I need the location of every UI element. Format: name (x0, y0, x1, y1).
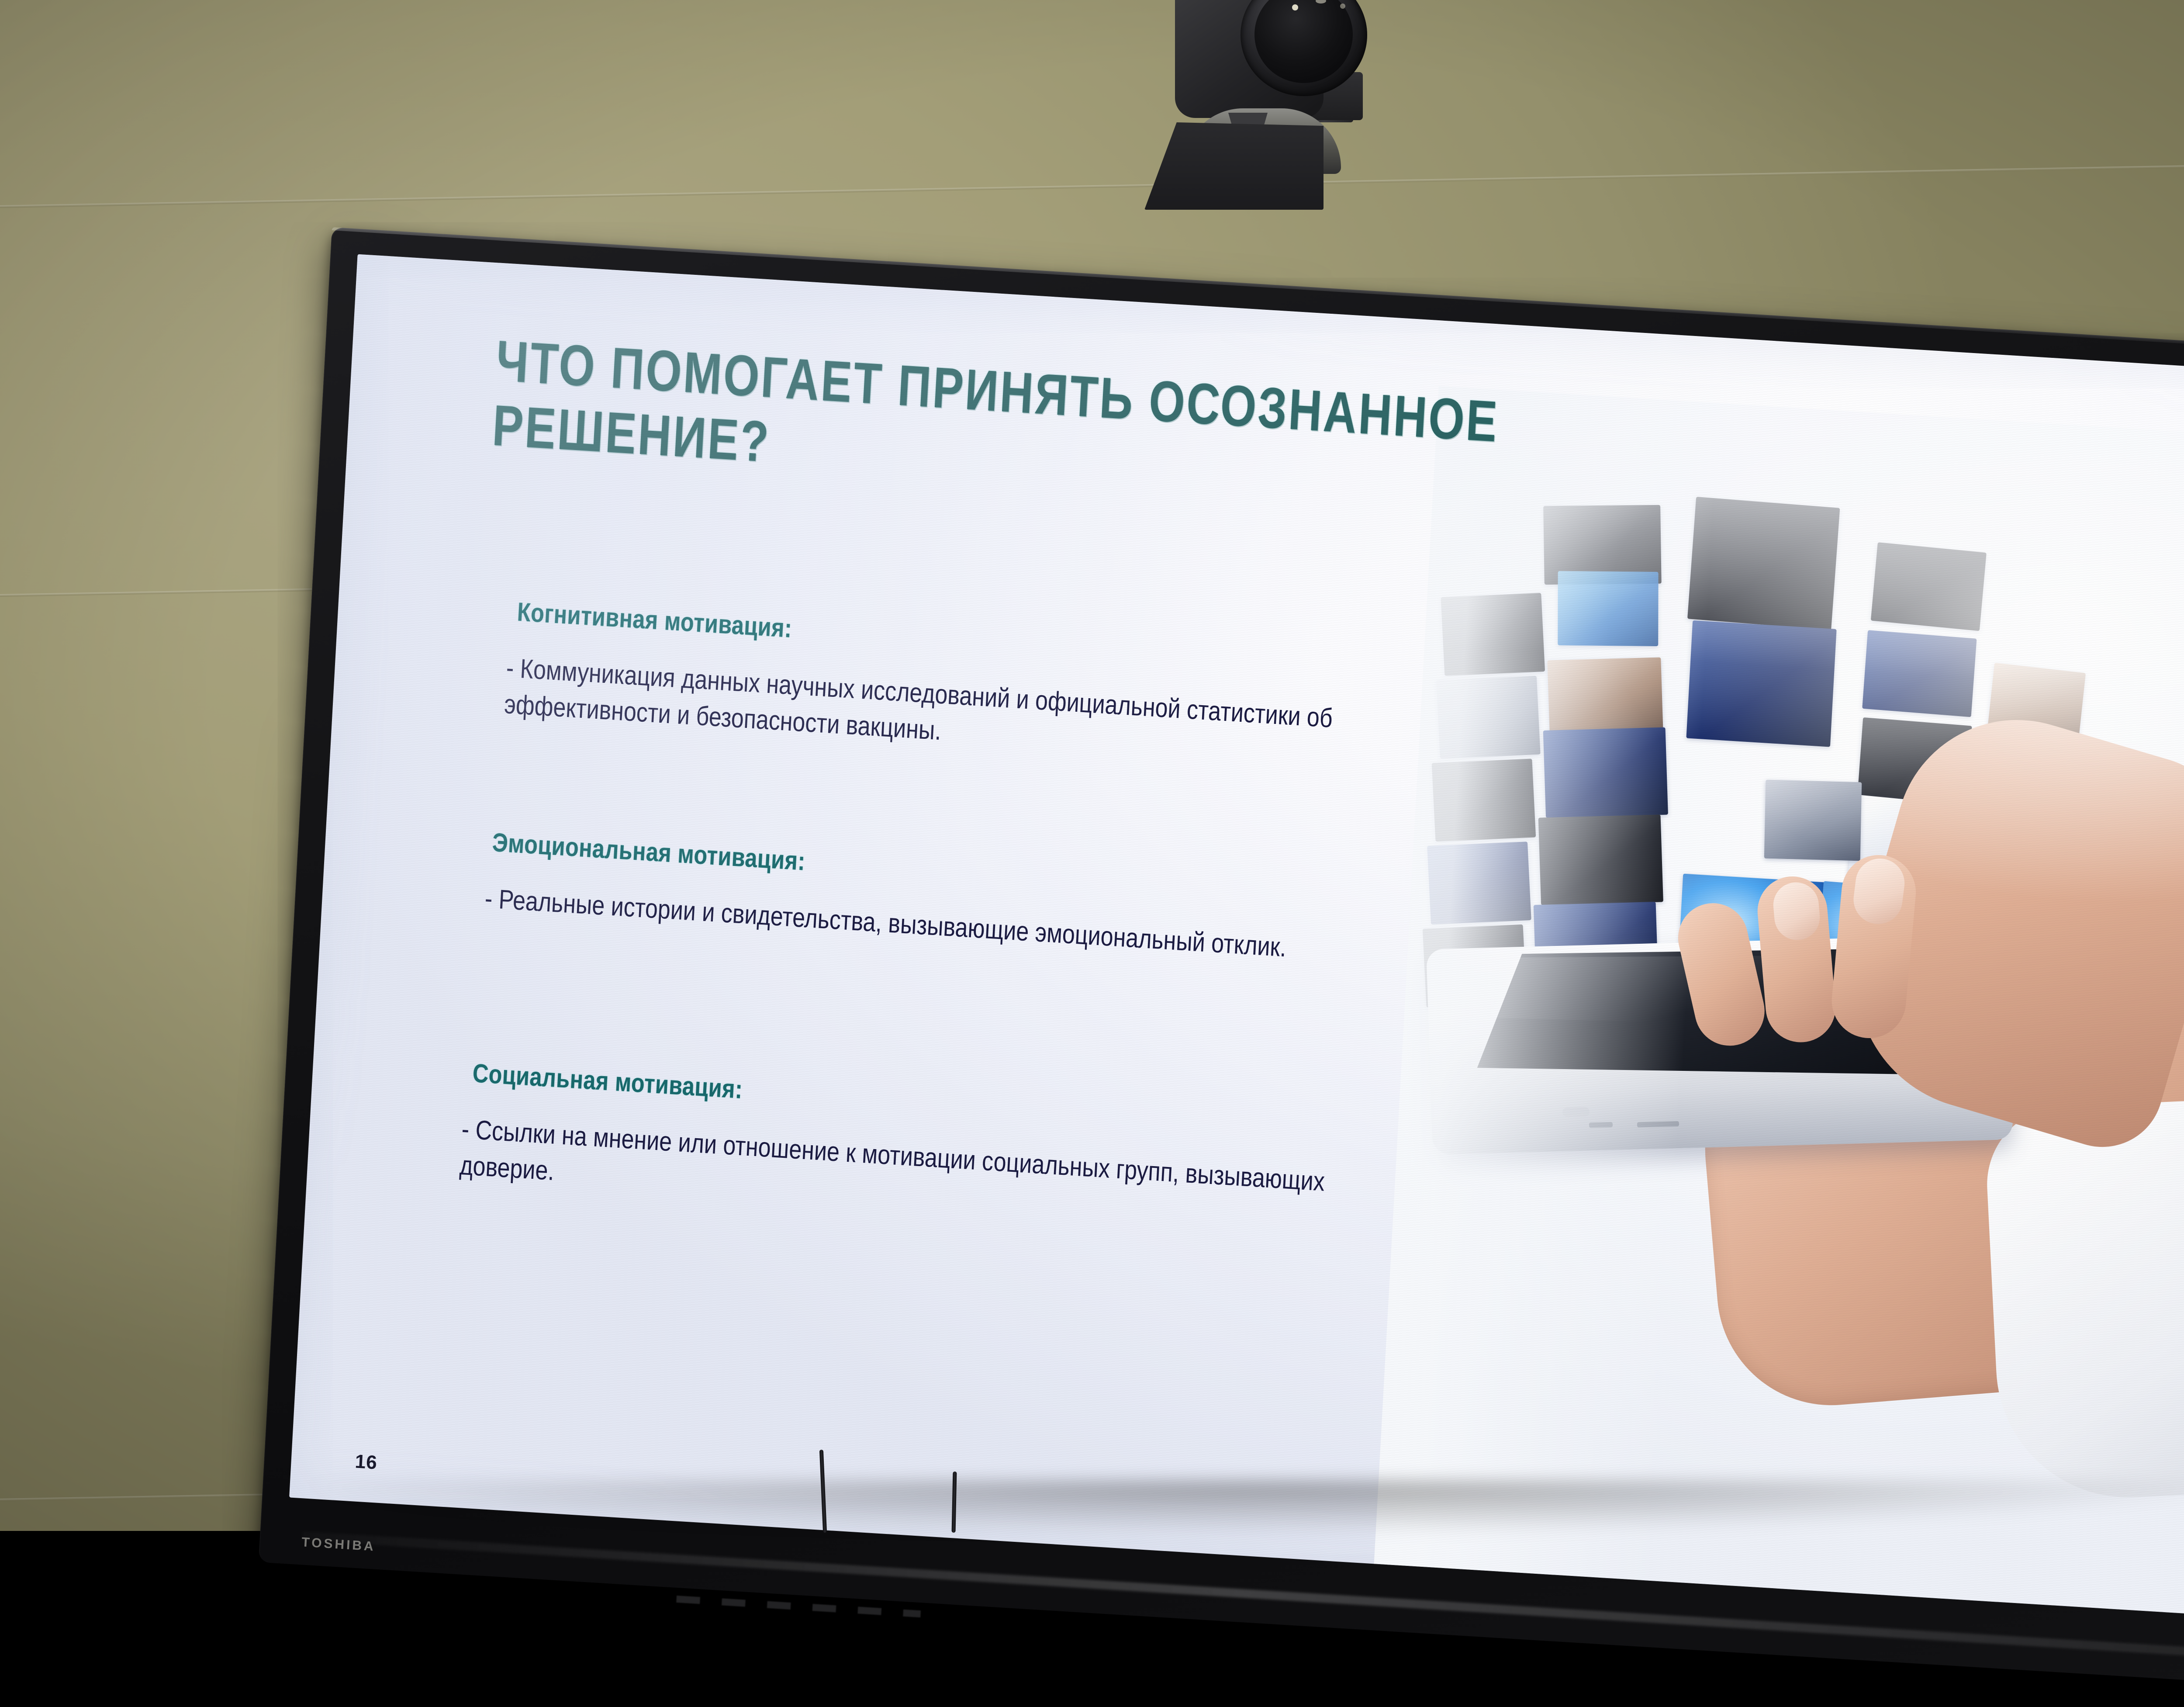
camera-lens-inner (1254, 0, 1353, 83)
thumbnail-tile (1558, 571, 1658, 646)
tv-port-strip (676, 1596, 921, 1617)
thumbnail-tile (1687, 497, 1840, 630)
slide-section-emotional: Эмоциональная мотивация: - Реальные исто… (321, 817, 1591, 984)
slide-number: 16 (354, 1451, 378, 1474)
thumbnail-tile (1686, 620, 1836, 747)
thumbnail-tile (1764, 780, 1862, 861)
wall-mounted-television: TOSHIBA (259, 227, 2184, 1692)
wall-seam-upper (0, 156, 2184, 208)
camera-head (1175, 0, 1324, 118)
tablet-charging-port (1637, 1121, 1679, 1128)
ptz-camera (1118, 0, 1424, 218)
lens-glint (1292, 4, 1298, 10)
slide-section-social: Социальная мотивация: - Ссылки на мнение… (307, 1048, 1579, 1252)
lens-glint (1340, 3, 1345, 9)
presentation-slide: ЧТО ПОМОГАЕТ ПРИНЯТЬ ОСОЗНАННОЕ РЕШЕНИЕ?… (289, 254, 2184, 1624)
tv-screen: ЧТО ПОМОГАЕТ ПРИНЯТЬ ОСОЗНАННОЕ РЕШЕНИЕ?… (289, 254, 2184, 1624)
slide-illustration (1374, 386, 2184, 1624)
thumbnail-tile (1538, 814, 1663, 905)
lens-glint (1316, 0, 1326, 3)
slide-section-cognitive: Когнитивная мотивация: - Коммуникация да… (332, 586, 1604, 789)
tablet-speaker-port (1589, 1122, 1613, 1128)
tv-bezel: TOSHIBA (259, 227, 2184, 1692)
tablet-headphone-port (1562, 1107, 1590, 1117)
slide-title: ЧТО ПОМОГАЕТ ПРИНЯТЬ ОСОЗНАННОЕ РЕШЕНИЕ? (491, 329, 1545, 522)
thumbnail-tile (1871, 542, 1987, 631)
thumbnail-tile (1862, 630, 1977, 717)
camera-mount-bracket (1144, 122, 1324, 210)
tv-drop-shadow (306, 1481, 2184, 1534)
